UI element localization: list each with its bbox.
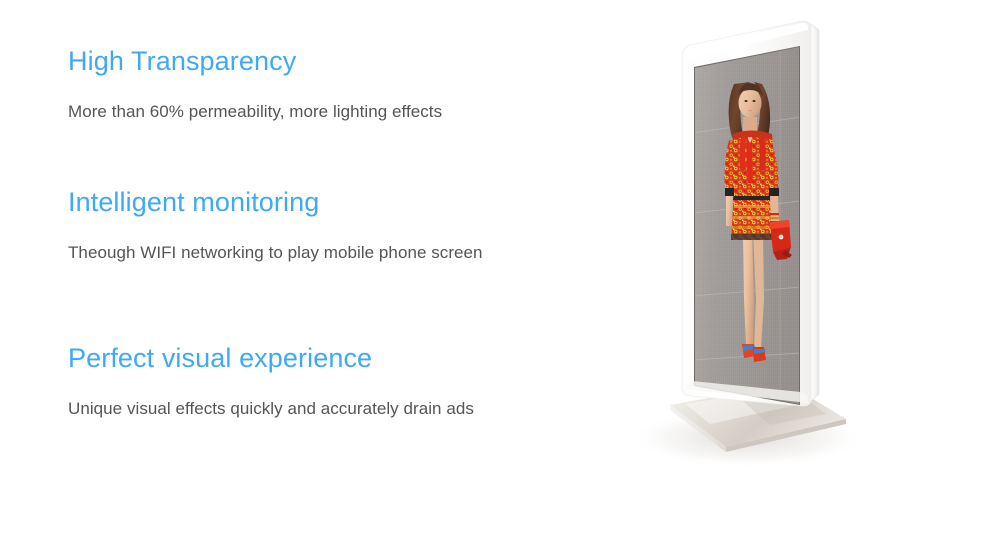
feature-block-high-transparency: High Transparency More than 60% permeabi… (68, 44, 628, 124)
feature-list: High Transparency More than 60% permeabi… (68, 44, 628, 437)
kiosk-panel (682, 21, 819, 415)
feature-spacer (68, 285, 628, 341)
screen-glare (695, 47, 799, 404)
feature-title-high-transparency: High Transparency (68, 44, 628, 78)
feature-title-perfect-visual-experience: Perfect visual experience (68, 341, 628, 375)
feature-title-intelligent-monitoring: Intelligent monitoring (68, 185, 628, 219)
feature-block-intelligent-monitoring: Intelligent monitoring Theough WIFI netw… (68, 185, 628, 265)
feature-block-perfect-visual-experience: Perfect visual experience Unique visual … (68, 341, 628, 421)
feature-description-perfect-visual-experience: Unique visual effects quickly and accura… (68, 397, 628, 421)
feature-description-high-transparency: More than 60% permeability, more lightin… (68, 100, 628, 124)
feature-description-intelligent-monitoring: Theough WIFI networking to play mobile p… (68, 241, 628, 265)
product-image-transparent-lcd-kiosk (630, 0, 1000, 542)
feature-spacer (68, 144, 628, 185)
